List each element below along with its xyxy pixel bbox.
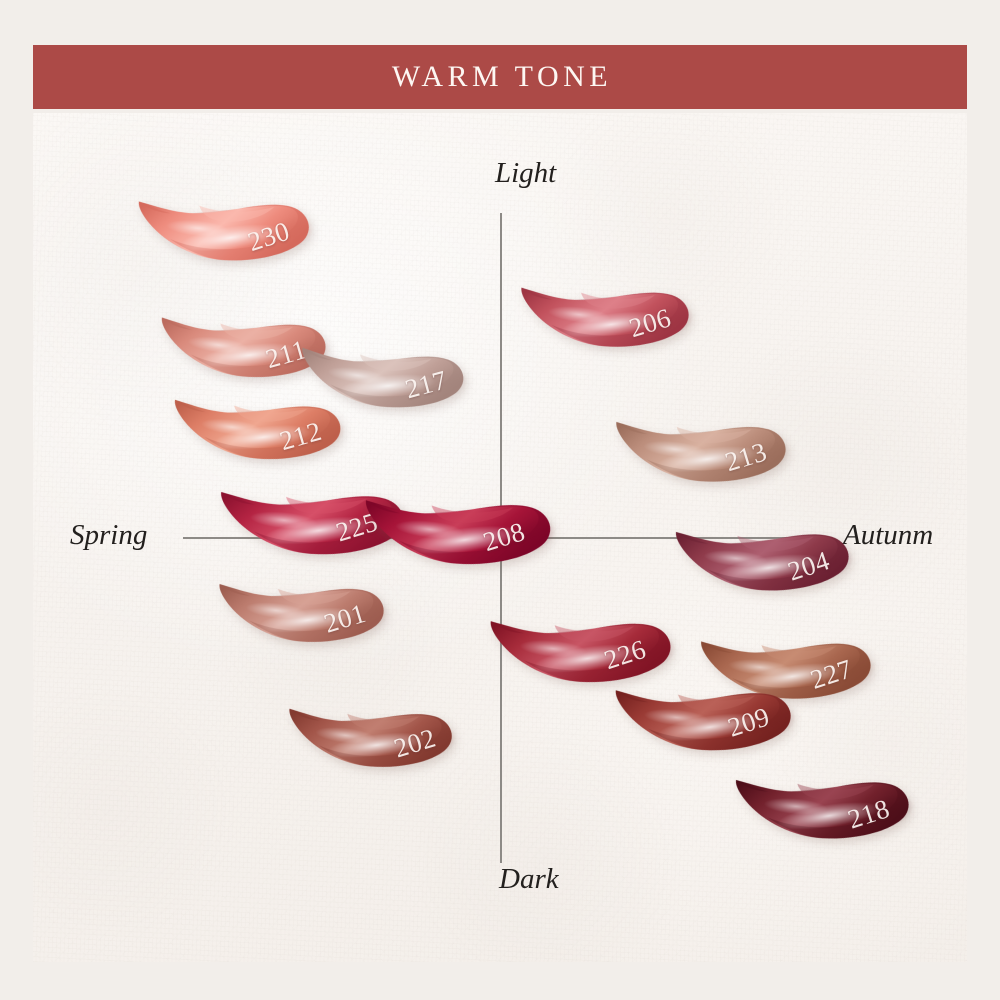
swatch-218[interactable]: 218 (732, 727, 921, 870)
header-bar: WARM TONE (33, 45, 967, 109)
swatch-smear-shape (732, 727, 921, 870)
axis-label-spring: Spring (70, 521, 147, 550)
swatch-smear-shape (518, 239, 701, 377)
swatch-smear-shape (613, 373, 799, 512)
axis-label-dark: Dark (499, 865, 559, 894)
swatch-206[interactable]: 206 (518, 239, 701, 377)
axis-label-light: Light (495, 159, 556, 188)
page-title: WARM TONE (388, 62, 612, 92)
swatch-smear-shape (135, 150, 322, 292)
swatch-230[interactable]: 230 (135, 150, 322, 292)
warm-tone-shade-chart: WARM TONE Light Dark Spring Autunm 23021… (0, 0, 1000, 1000)
swatch-202[interactable]: 202 (286, 662, 464, 796)
chart-paper-panel: Light Dark Spring Autunm 230211217212225… (33, 113, 967, 962)
axis-label-autumn: Autunm (843, 521, 933, 550)
swatch-213[interactable]: 213 (613, 373, 799, 512)
swatch-smear-shape (286, 662, 464, 796)
